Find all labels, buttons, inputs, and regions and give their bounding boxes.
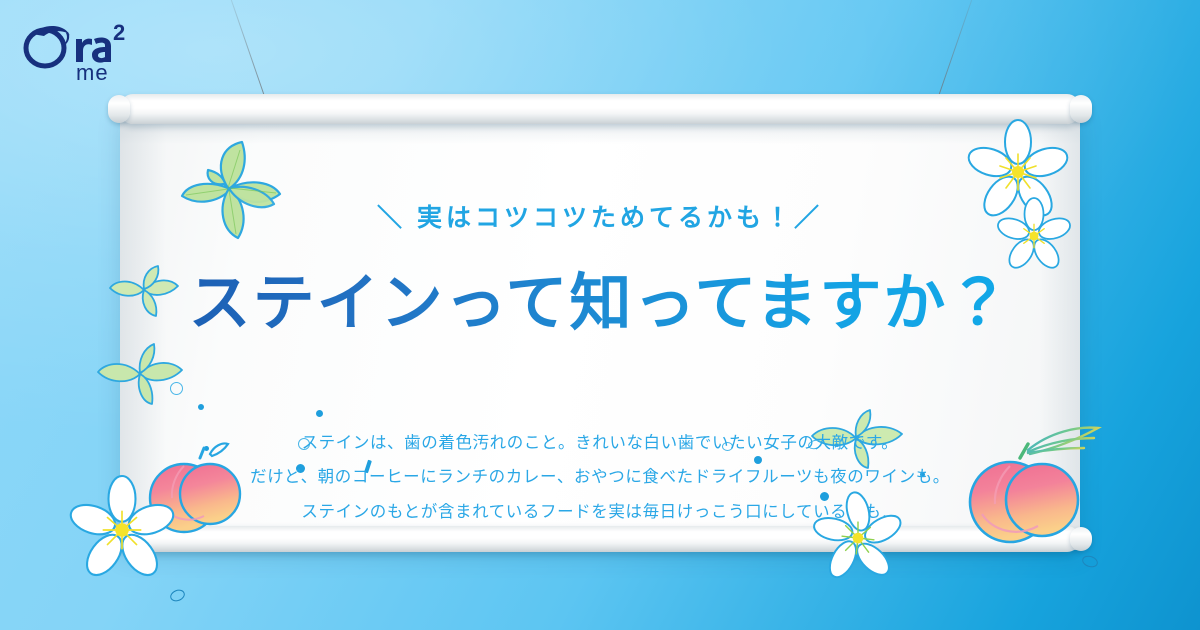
logo-sub-text: me <box>76 60 109 84</box>
eyebrow-text: ＼ 実はコツコツためてるかも！／ <box>377 198 823 234</box>
body-line-1: ステインは、歯の着色汚れのこと。きれいな白い歯でいたい女子の大敵です。 <box>250 426 950 461</box>
body-copy: ステインは、歯の着色汚れのこと。きれいな白い歯でいたい女子の大敵です。 だけど、… <box>250 426 950 530</box>
page-title: ステインって知ってますか？ <box>189 252 1012 342</box>
banner-content: ＼ 実はコツコツためてるかも！／ ステインって知ってますか？ ステインは、歯の着… <box>120 110 1080 550</box>
ora2-me-logo: 2 me <box>18 18 138 84</box>
ring-mark <box>1081 554 1100 569</box>
logo-superscript: 2 <box>113 20 125 45</box>
ring-mark <box>168 588 186 604</box>
banner-stage: 2 me <box>0 0 1200 630</box>
body-line-3: ステインのもとが含まれているフードを実は毎日けっこう口にしているかも… <box>250 495 950 530</box>
body-line-2: だけど、朝のコーヒーにランチのカレー、おやつに食べたドライフルーツも夜のワインも… <box>250 460 950 495</box>
hanging-banner: ＼ 実はコツコツためてるかも！／ ステインって知ってますか？ ステインは、歯の着… <box>120 92 1080 562</box>
